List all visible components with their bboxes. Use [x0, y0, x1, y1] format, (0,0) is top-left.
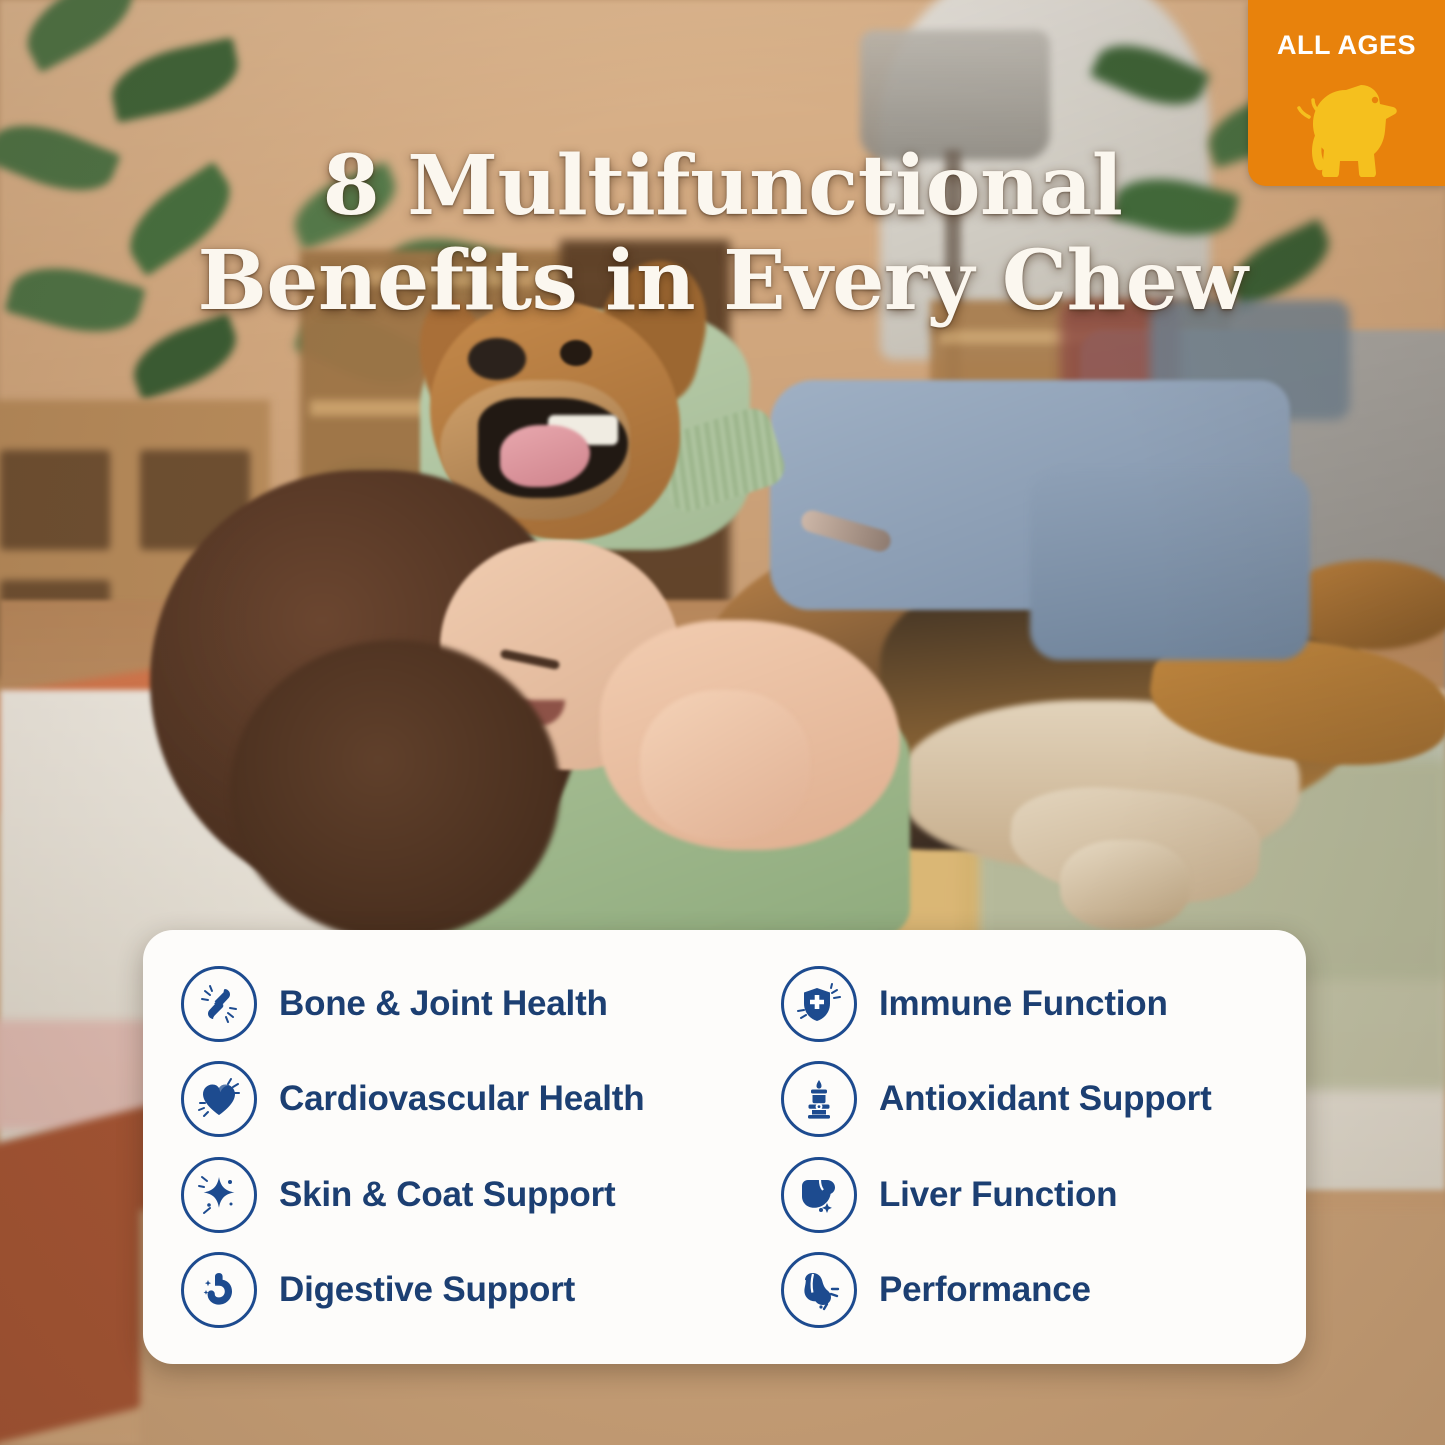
sitting-dog-icon	[1287, 65, 1407, 182]
heart-icon	[181, 1061, 257, 1137]
benefit-item-liver-function[interactable]: Liver Function	[781, 1147, 1306, 1243]
benefit-item-performance[interactable]: Performance	[781, 1243, 1306, 1339]
benefit-item-skin-coat-support[interactable]: Skin & Coat Support	[181, 1147, 781, 1243]
page-title: 8 Multifunctional Benefits in Every Chew	[0, 139, 1445, 329]
all-ages-label: ALL AGES	[1277, 30, 1416, 61]
bone-joint-icon	[181, 966, 257, 1042]
benefit-label: Cardiovascular Health	[279, 1079, 644, 1119]
title-line-1: 8 Multifunctional	[323, 138, 1123, 234]
stomach-icon	[181, 1252, 257, 1328]
title-line-2: Benefits in Every Chew	[60, 234, 1385, 329]
benefit-item-bone-joint-health[interactable]: Bone & Joint Health	[181, 956, 781, 1052]
benefit-label: Antioxidant Support	[879, 1079, 1212, 1119]
benefit-item-antioxidant-support[interactable]: Antioxidant Support	[781, 1052, 1306, 1148]
benefit-item-digestive-support[interactable]: Digestive Support	[181, 1243, 781, 1339]
sparkle-icon	[181, 1157, 257, 1233]
benefit-label: Bone & Joint Health	[279, 984, 608, 1024]
benefit-label: Digestive Support	[279, 1270, 575, 1310]
product-infographic: 8 Multifunctional Benefits in Every Chew…	[0, 0, 1445, 1445]
benefit-label: Liver Function	[879, 1175, 1117, 1215]
muscle-icon	[781, 1252, 857, 1328]
liver-icon	[781, 1157, 857, 1233]
hydrant-icon	[781, 1061, 857, 1137]
benefit-label: Immune Function	[879, 984, 1168, 1024]
benefits-grid: Bone & Joint Health Immune Function	[143, 930, 1306, 1364]
shield-plus-icon	[781, 966, 857, 1042]
benefits-panel: Bone & Joint Health Immune Function	[143, 930, 1306, 1364]
all-ages-badge: ALL AGES	[1248, 0, 1445, 186]
benefit-label: Skin & Coat Support	[279, 1175, 615, 1215]
benefit-item-immune-function[interactable]: Immune Function	[781, 956, 1306, 1052]
benefit-label: Performance	[879, 1270, 1091, 1310]
benefit-item-cardiovascular-health[interactable]: Cardiovascular Health	[181, 1052, 781, 1148]
